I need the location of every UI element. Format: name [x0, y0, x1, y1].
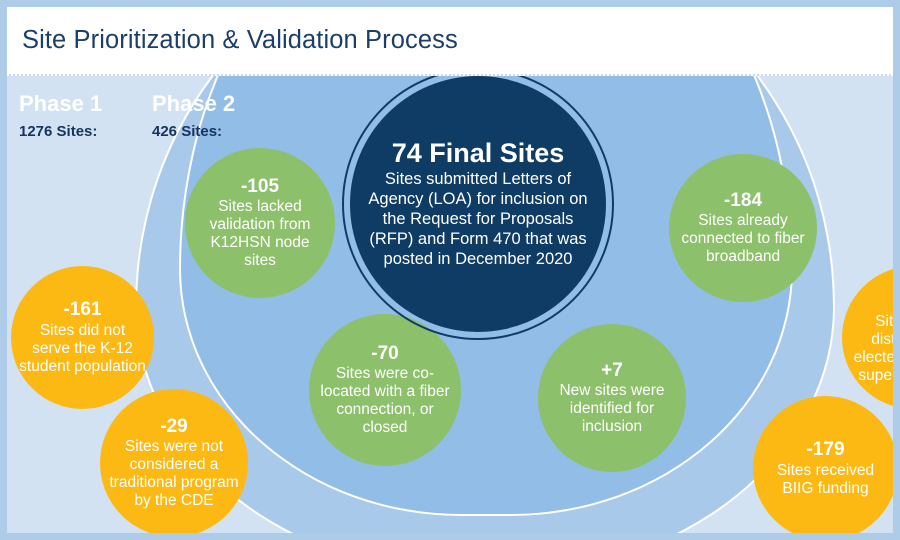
phase-1-label-group: Phase 1 1276 Sites:	[19, 92, 102, 140]
diagram-canvas: Site Prioritization & Validation Process…	[0, 0, 900, 540]
bubble-description: Sites lacked validation from K12HSN node…	[193, 198, 327, 270]
title-divider	[7, 74, 893, 76]
bubble-number: +7	[601, 360, 623, 382]
hub-description: Sites submitted Letters of Agency (LOA) …	[364, 170, 592, 269]
phase-2-title: Phase 2	[152, 92, 235, 115]
bubble-description: Sites were not considered a traditional …	[108, 438, 240, 510]
bubble-not-k12-students[interactable]: -161 Sites did not serve the K-12 studen…	[11, 266, 154, 409]
bubble-number: -105	[241, 176, 279, 198]
title-bar: Site Prioritization & Validation Process	[7, 7, 893, 74]
bubble-k12hsn-validation[interactable]: -105 Sites lacked validation from K12HSN…	[185, 148, 335, 298]
phase-1-count: 1276 Sites:	[19, 123, 102, 140]
bubble-number: -161	[63, 299, 101, 321]
bubble-description: New sites were identified for inclusion	[546, 382, 678, 436]
page-title: Site Prioritization & Validation Process	[7, 26, 458, 55]
bubble-description: Sites already connected to fiber broadba…	[677, 212, 809, 266]
phase-1-title: Phase 1	[19, 92, 102, 115]
bubble-new-sites[interactable]: +7 New sites were identified for inclusi…	[538, 324, 686, 472]
bubble-description: Sites were co-located with a fiber conne…	[317, 365, 453, 437]
bubble-no-elected-board[interactable]: -48 Sites not in districts with elected …	[842, 266, 893, 409]
bubble-biig-funding[interactable]: -179 Sites received BIIG funding	[753, 396, 893, 533]
bubble-not-traditional-cde[interactable]: -29 Sites were not considered a traditio…	[100, 389, 248, 533]
bubble-number: -70	[371, 343, 398, 365]
hub-final-sites[interactable]: 74 Final Sites Sites submitted Letters o…	[350, 76, 606, 332]
bubble-description: Sites received BIIG funding	[761, 462, 890, 498]
bubble-co-located-fiber[interactable]: -70 Sites were co-located with a fiber c…	[309, 314, 461, 466]
bubble-number: -179	[806, 439, 844, 461]
bubble-number: -184	[724, 190, 762, 212]
bubble-number: -29	[160, 416, 187, 438]
bubble-description: Sites not in districts with elected boar…	[850, 313, 893, 385]
bubble-description: Sites did not serve the K-12 student pop…	[19, 322, 146, 376]
diagram-stage: Phase 1 1276 Sites: Phase 2 426 Sites: -…	[7, 76, 893, 533]
phase-2-count: 426 Sites:	[152, 123, 235, 140]
hub-number: 74 Final Sites	[392, 139, 565, 169]
phase-2-label-group: Phase 2 426 Sites:	[152, 92, 235, 140]
bubble-fiber-connected[interactable]: -184 Sites already connected to fiber br…	[669, 154, 817, 302]
